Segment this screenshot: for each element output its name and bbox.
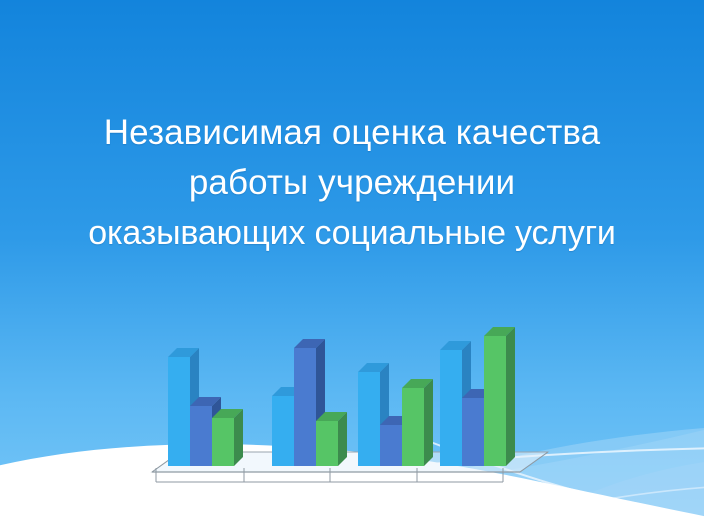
bar-4-3[interactable] <box>484 327 515 466</box>
bar-group-3 <box>358 363 433 466</box>
bar-group-4 <box>440 327 515 466</box>
slide-canvas: Независимая оценка качества работы учреж… <box>0 0 704 528</box>
bar-chart-canvas <box>0 0 704 528</box>
bar-2-3[interactable] <box>316 412 347 466</box>
bar-1-3[interactable] <box>212 409 243 466</box>
bar-chart <box>0 0 704 528</box>
bar-group-1 <box>168 348 243 466</box>
bar-group-2 <box>272 339 347 466</box>
bar-3-3[interactable] <box>402 379 433 466</box>
